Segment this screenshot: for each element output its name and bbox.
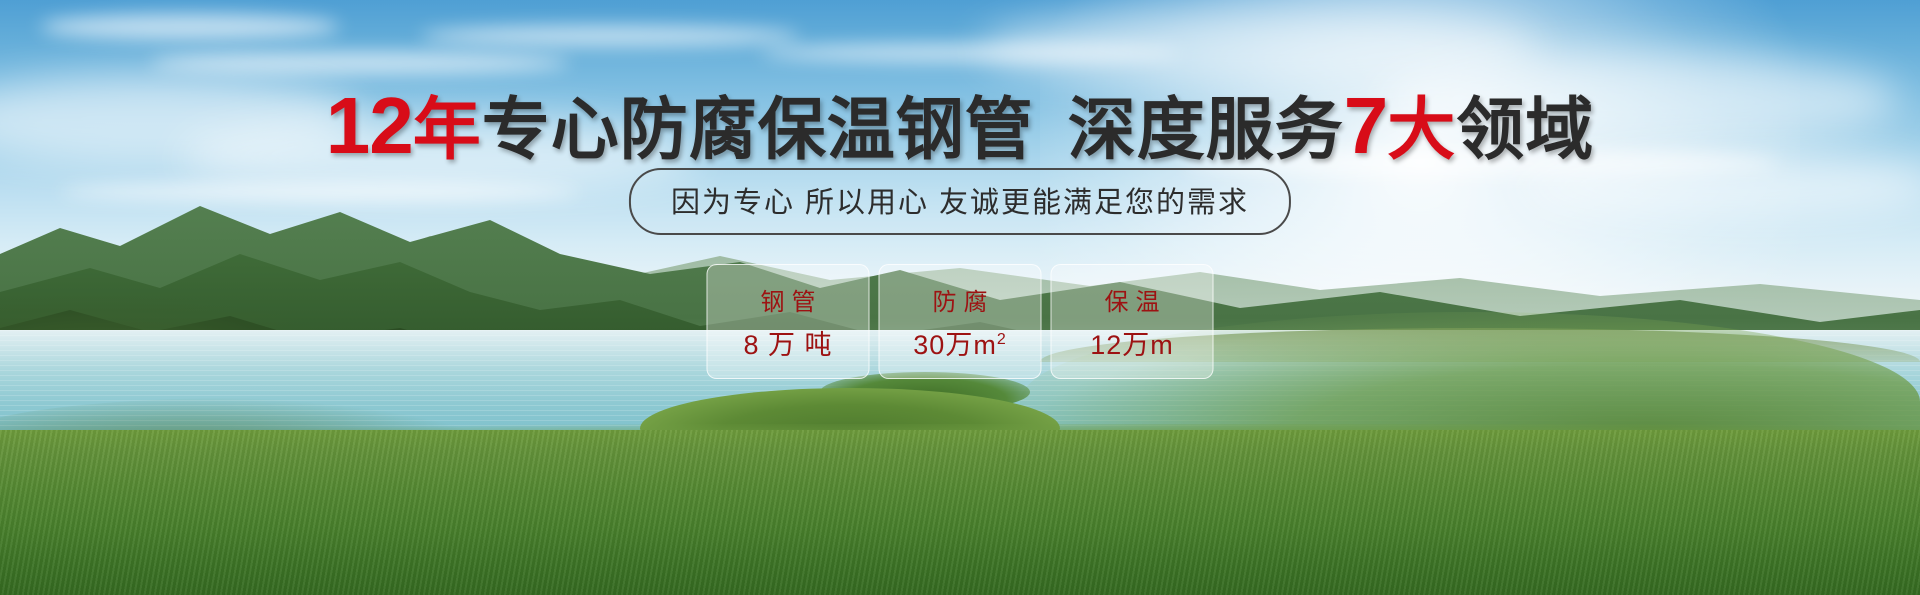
headline-main-phrase: 专心防腐保温钢管: [482, 92, 1034, 168]
stat-box-anticorrosion: 防腐 30万m2: [879, 264, 1042, 379]
stat-box-steel-pipe: 钢管 8 万 吨: [707, 264, 870, 379]
stat-value: 30万m2: [913, 323, 1006, 362]
stat-value-text: 12万m: [1090, 330, 1174, 360]
subtitle-pill: 因为专心 所以用心 友诚更能满足您的需求: [629, 168, 1291, 235]
stat-value: 8 万 吨: [743, 323, 832, 362]
headline-fields-measure: 大: [1387, 92, 1456, 168]
stat-box-insulation: 保温 12万m: [1051, 264, 1214, 379]
stat-label: 防腐: [926, 282, 995, 317]
banner-content: 12年专心防腐保温钢管深度服务7大领域 因为专心 所以用心 友诚更能满足您的需求…: [0, 0, 1920, 595]
headline-fields-number: 7: [1344, 81, 1388, 170]
hero-banner: 12年专心防腐保温钢管深度服务7大领域 因为专心 所以用心 友诚更能满足您的需求…: [0, 0, 1920, 595]
stat-value-exponent: 2: [997, 331, 1007, 348]
stat-label: 钢管: [754, 282, 823, 317]
headline-years-unit: 年: [413, 92, 482, 168]
headline-years-number: 12: [326, 81, 413, 170]
stats-group: 钢管 8 万 吨 防腐 30万m2 保温 12万m: [707, 264, 1214, 379]
stat-label: 保温: [1098, 282, 1167, 317]
headline: 12年专心防腐保温钢管深度服务7大领域: [0, 86, 1920, 166]
stat-value-text: 30万m: [913, 330, 997, 360]
stat-value: 12万m: [1090, 323, 1174, 362]
headline-service-phrase: 深度服务: [1068, 92, 1344, 168]
stat-value-text: 8 万 吨: [743, 330, 832, 360]
headline-fields-word: 领域: [1456, 92, 1594, 168]
